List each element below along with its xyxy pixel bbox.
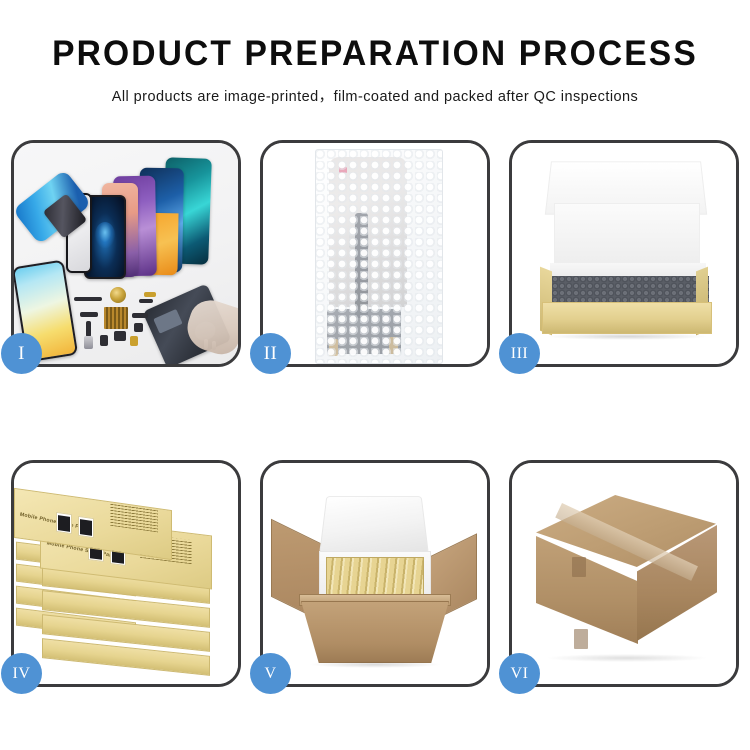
step-4-image: Mobile Phone Spare Parts Mobile Phone Sp… xyxy=(14,463,238,684)
step-2-image xyxy=(263,143,487,364)
step-6-image xyxy=(512,463,736,684)
page-title: PRODUCT PREPARATION PROCESS xyxy=(15,36,735,73)
parts-scene xyxy=(14,143,238,364)
inner-box-scene xyxy=(512,143,736,364)
part-sim-tray xyxy=(84,336,93,349)
box-thumb-back-b xyxy=(78,516,94,538)
box-stack-scene: Mobile Phone Spare Parts Mobile Phone Sp… xyxy=(14,463,238,684)
part-camera-module xyxy=(114,331,126,341)
part-chip-array xyxy=(104,307,128,329)
gold-boxes-inside xyxy=(326,557,424,595)
process-step-panel-5[interactable]: V xyxy=(260,460,490,687)
part-gold-clip xyxy=(144,292,156,297)
step-badge-3: III xyxy=(499,333,540,374)
box-thumb-back-a xyxy=(56,512,72,534)
box-shadow xyxy=(546,333,708,340)
box-front-panel xyxy=(542,302,712,334)
step-3-image xyxy=(512,143,736,364)
carton-tab-lower xyxy=(574,629,588,649)
carton-shadow xyxy=(548,654,706,662)
bubble-pack-scene xyxy=(263,143,487,364)
carton-loading-scene xyxy=(263,463,487,684)
page-subtitle: All products are image-printed，film-coat… xyxy=(0,85,750,106)
sealed-carton-scene xyxy=(512,463,736,684)
process-step-panel-3[interactable]: III xyxy=(509,140,739,367)
part-earpiece-mesh xyxy=(74,297,102,301)
step-5-image xyxy=(263,463,487,684)
page-header: PRODUCT PREPARATION PROCESS All products… xyxy=(0,0,750,106)
step-badge-6: VI xyxy=(499,653,540,694)
process-step-panel-1[interactable]: I xyxy=(11,140,241,367)
part-vibrator xyxy=(100,335,108,346)
part-gold-connector xyxy=(130,336,138,346)
part-taptic-coin xyxy=(110,287,126,303)
process-step-panel-4[interactable]: Mobile Phone Spare Parts Mobile Phone Sp… xyxy=(11,460,241,687)
carton-shadow xyxy=(309,661,441,668)
process-step-panel-6[interactable]: VI xyxy=(509,460,739,687)
process-step-panel-2[interactable]: II xyxy=(260,140,490,367)
foam-box-lid xyxy=(319,496,429,554)
process-step-grid: I II xyxy=(11,140,739,687)
part-button-flex xyxy=(139,299,153,303)
box-stack: Mobile Phone Spare Parts Mobile Phone Sp… xyxy=(14,463,238,684)
step-badge-1: I xyxy=(1,333,42,374)
carton-tab-upper xyxy=(572,557,586,577)
part-bracket xyxy=(86,321,91,337)
part-volume-flex xyxy=(80,312,98,317)
step-badge-4: IV xyxy=(1,653,42,694)
part-antenna-flex xyxy=(132,313,148,318)
step-badge-5: V xyxy=(250,653,291,694)
bubble-wrap-bag xyxy=(315,149,443,364)
carton-body xyxy=(301,601,449,663)
part-speaker xyxy=(134,323,143,332)
step-badge-2: II xyxy=(250,333,291,374)
step-1-image xyxy=(14,143,238,364)
